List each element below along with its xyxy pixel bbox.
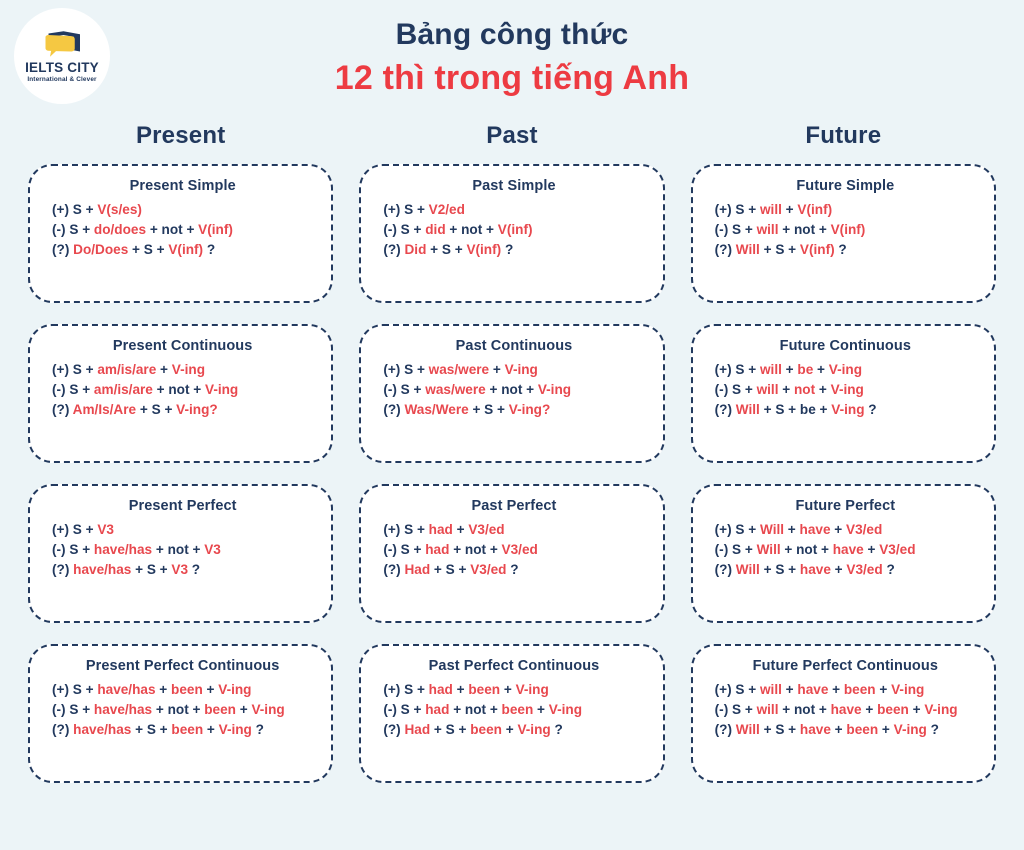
formula-keyword: Am/Is/Are (73, 402, 136, 417)
formula-keyword: will (760, 362, 782, 377)
formula-text: + (815, 382, 831, 397)
formula-text: (?) (52, 402, 73, 417)
formula-keyword: have/has (73, 722, 131, 737)
formula-text: (?) (383, 402, 404, 417)
tense-card-title: Present Simple (52, 178, 313, 194)
formula-text: (-) S + (383, 542, 425, 557)
formula-keyword: V-ing (924, 702, 957, 717)
formula-keyword: been (171, 722, 203, 737)
formula-text: + (878, 722, 894, 737)
formula-keyword: been (171, 682, 203, 697)
formula-line: (+) S + will + be + V-ing (715, 362, 976, 377)
formula-keyword: Was/Were (404, 402, 468, 417)
formula-keyword: Will (736, 722, 760, 737)
formula-keyword: am/is/are (97, 362, 156, 377)
formula-keyword: been (846, 722, 878, 737)
formula-keyword: V-ing (172, 362, 205, 377)
formula-keyword: Did (404, 242, 426, 257)
formula-line: (+) S + had + been + V-ing (383, 682, 644, 697)
formula-text: (-) S + (383, 222, 425, 237)
tense-card: Future Perfect(+) S + Will + have + V3/e… (691, 484, 996, 623)
formula-text: (+) S + (383, 682, 428, 697)
formula-keyword: Will (736, 242, 760, 257)
formula-line: (?) Am/Is/Are + S + V-ing? (52, 402, 313, 417)
tense-card-title: Present Continuous (52, 338, 313, 354)
formula-keyword: had (429, 682, 453, 697)
formula-line: (?) Will + S + have + been + V-ing ? (715, 722, 976, 737)
formula-keyword: been (844, 682, 876, 697)
formula-text: (+) S + (715, 682, 760, 697)
formula-line: (?) Do/Does + S + V(inf) ? (52, 242, 313, 257)
formula-text: ? (507, 562, 519, 577)
formula-keyword: V3 (204, 542, 221, 557)
formula-line: (+) S + V3 (52, 522, 313, 537)
formula-keyword: V(inf) (466, 242, 501, 257)
formula-text: + (489, 362, 505, 377)
formula-text: + not + (146, 222, 198, 237)
formula-keyword: have/has (73, 562, 131, 577)
formula-text: (-) S + (383, 382, 425, 397)
formula-line: (-) S + have/has + not + V3 (52, 542, 313, 557)
formula-line: (-) S + was/were + not + V-ing (383, 382, 644, 397)
formula-line: (-) S + have/has + not + been + V-ing (52, 702, 313, 717)
formula-keyword: Will (760, 522, 784, 537)
formula-keyword: V-ing (516, 682, 549, 697)
formula-text: + (864, 542, 880, 557)
formula-text: + (236, 702, 252, 717)
formula-text: + (500, 682, 516, 697)
formula-line: (+) S + will + have + been + V-ing (715, 682, 976, 697)
formula-keyword: V-ing (894, 722, 927, 737)
formula-text: + (876, 682, 892, 697)
formula-text: (+) S + (383, 522, 428, 537)
formula-keyword: V-ing (831, 402, 864, 417)
formula-keyword: have (800, 722, 831, 737)
formula-keyword: have/has (94, 542, 152, 557)
formula-text: (-) S + (52, 702, 94, 717)
formula-keyword: have/has (94, 702, 152, 717)
formula-keyword: been (470, 722, 502, 737)
tense-card-title: Future Simple (715, 178, 976, 194)
formula-keyword: had (429, 522, 453, 537)
tense-card-title: Past Simple (383, 178, 644, 194)
formula-text: (?) (715, 562, 736, 577)
formula-keyword: V(inf) (831, 222, 866, 237)
formula-text: + S + (131, 562, 171, 577)
formula-text: (-) S + (52, 542, 94, 557)
formula-text: ? (927, 722, 939, 737)
formula-keyword: V-ing (549, 702, 582, 717)
formula-text: + S + (131, 722, 171, 737)
formula-keyword: be (797, 362, 813, 377)
formula-list: (+) S + V(s/es)(-) S + do/does + not + V… (52, 202, 313, 257)
formula-keyword: V(s/es) (97, 202, 142, 217)
formula-keyword: Had (404, 562, 430, 577)
formula-text: + S + (430, 722, 470, 737)
formula-text: + S + (760, 722, 800, 737)
tense-card: Past Perfect Continuous(+) S + had + bee… (359, 644, 664, 783)
formula-line: (?) have/has + S + been + V-ing ? (52, 722, 313, 737)
formula-keyword: V2/ed (429, 202, 465, 217)
tense-card: Future Perfect Continuous(+) S + will + … (691, 644, 996, 783)
formula-keyword: Do/Does (73, 242, 128, 257)
formula-line: (-) S + do/does + not + V(inf) (52, 222, 313, 237)
formula-keyword: V-ing (505, 362, 538, 377)
formula-line: (?) Did + S + V(inf) ? (383, 242, 644, 257)
formula-keyword: been (502, 702, 534, 717)
formula-text: + (831, 522, 847, 537)
formula-keyword: V(inf) (168, 242, 203, 257)
formula-keyword: was/were (425, 382, 485, 397)
tense-card-title: Future Continuous (715, 338, 976, 354)
formula-list: (+) S + will + be + V-ing(-) S + will + … (715, 362, 976, 417)
formula-text: + (782, 682, 798, 697)
formula-text: + (784, 522, 800, 537)
formula-line: (?) Will + S + V(inf) ? (715, 242, 976, 257)
formula-text: + (453, 682, 469, 697)
formula-text: (?) (715, 242, 736, 257)
formula-line: (+) S + was/were + V-ing (383, 362, 644, 377)
formula-keyword: V-ing (538, 382, 571, 397)
formula-keyword: Will (757, 542, 781, 557)
tense-card-title: Future Perfect (715, 498, 976, 514)
formula-line: (-) S + will + not + have + been + V-ing (715, 702, 976, 717)
formula-text: + (453, 522, 469, 537)
formula-text: (+) S + (52, 362, 97, 377)
column-header-past: Past (359, 122, 664, 150)
formula-text: (+) S + (715, 202, 760, 217)
formula-keyword: not (794, 382, 815, 397)
tense-card-title: Past Perfect Continuous (383, 658, 644, 674)
formula-text: (?) (52, 722, 73, 737)
formula-text: (+) S + (383, 202, 428, 217)
tense-card: Present Perfect(+) S + V3(-) S + have/ha… (28, 484, 333, 623)
formula-text: + S + be + (760, 402, 831, 417)
formula-keyword: was/were (429, 362, 489, 377)
formula-text: + (203, 722, 219, 737)
formula-list: (+) S + have/has + been + V-ing(-) S + h… (52, 682, 313, 737)
formula-text: + (909, 702, 925, 717)
formula-text: (+) S + (383, 362, 428, 377)
formula-text: (-) S + (715, 382, 757, 397)
formula-line: (-) S + am/is/are + not + V-ing (52, 382, 313, 397)
formula-keyword: have (831, 702, 862, 717)
formula-keyword: V(inf) (797, 202, 832, 217)
formula-text: ? (252, 722, 264, 737)
column-headers: Present Past Future (28, 122, 996, 150)
formula-line: (+) S + will + V(inf) (715, 202, 976, 217)
formula-keyword: V3/ed (502, 542, 538, 557)
formula-text: + (813, 362, 829, 377)
formula-text: + not + (446, 222, 498, 237)
formula-text: ? (551, 722, 563, 737)
formula-text: (?) (383, 722, 404, 737)
formula-keyword: V-ing (251, 702, 284, 717)
formula-keyword: been (877, 702, 909, 717)
formula-text: (-) S + (383, 702, 425, 717)
formula-keyword: V-ing (891, 682, 924, 697)
formula-text: (+) S + (52, 202, 97, 217)
formula-keyword: will (760, 682, 782, 697)
formula-text: + not + (153, 382, 205, 397)
formula-keyword: Had (404, 722, 430, 737)
formula-text: + (782, 202, 798, 217)
formula-text: + not + (778, 702, 830, 717)
formula-text: ? (501, 242, 513, 257)
formula-list: (+) S + had + V3/ed(-) S + had + not + V… (383, 522, 644, 577)
formula-list: (+) S + will + V(inf)(-) S + will + not … (715, 202, 976, 257)
formula-keyword: V3/ed (846, 522, 882, 537)
formula-text: (-) S + (715, 702, 757, 717)
formula-list: (+) S + was/were + V-ing(-) S + was/were… (383, 362, 644, 417)
formula-text: + S + (760, 562, 800, 577)
formula-keyword: V-ing? (509, 402, 551, 417)
formula-list: (+) S + had + been + V-ing(-) S + had + … (383, 682, 644, 737)
formula-list: (+) S + V2/ed(-) S + did + not + V(inf)(… (383, 202, 644, 257)
formula-keyword: will (757, 382, 779, 397)
formula-line: (+) S + Will + have + V3/ed (715, 522, 976, 537)
tense-card-title: Future Perfect Continuous (715, 658, 976, 674)
formula-text: (-) S + (715, 222, 757, 237)
formula-text: + not + (152, 702, 204, 717)
formula-text: (?) (383, 242, 404, 257)
page-header: IELTS CITY International & Clever Bảng c… (0, 0, 1024, 122)
formula-text: ? (865, 402, 877, 417)
formula-keyword: am/is/are (94, 382, 153, 397)
formula-keyword: V-ing (517, 722, 550, 737)
formula-text: (?) (52, 242, 73, 257)
formula-line: (+) S + had + V3/ed (383, 522, 644, 537)
formula-text: (+) S + (715, 522, 760, 537)
formula-keyword: Will (736, 402, 760, 417)
formula-keyword: V-ing (218, 682, 251, 697)
formula-line: (-) S + will + not + V(inf) (715, 222, 976, 237)
formula-keyword: V-ing? (176, 402, 218, 417)
formula-keyword: V(inf) (498, 222, 533, 237)
formula-keyword: have/has (97, 682, 155, 697)
formula-text: (-) S + (715, 542, 757, 557)
formula-line: (?) Had + S + been + V-ing ? (383, 722, 644, 737)
formula-keyword: have (833, 542, 864, 557)
column-header-future: Future (691, 122, 996, 150)
formula-list: (+) S + V3(-) S + have/has + not + V3(?)… (52, 522, 313, 577)
formula-text: + (831, 722, 847, 737)
formula-text: + (831, 562, 847, 577)
formula-line: (-) S + had + not + V3/ed (383, 542, 644, 557)
formula-text: + (862, 702, 878, 717)
title-block: Bảng công thức 12 thì trong tiếng Anh (0, 18, 1024, 99)
formula-text: (?) (715, 722, 736, 737)
formula-text: + not + (781, 542, 833, 557)
column-header-present: Present (28, 122, 333, 150)
tense-card: Present Continuous(+) S + am/is/are + V-… (28, 324, 333, 463)
formula-line: (-) S + Will + not + have + V3/ed (715, 542, 976, 557)
formula-keyword: V(inf) (800, 242, 835, 257)
formula-text: (+) S + (715, 362, 760, 377)
formula-line: (+) S + V(s/es) (52, 202, 313, 217)
tense-card-title: Past Continuous (383, 338, 644, 354)
formula-text: ? (188, 562, 200, 577)
page-title: Bảng công thức (0, 18, 1024, 53)
tense-card: Future Simple(+) S + will + V(inf)(-) S … (691, 164, 996, 303)
formula-text: + (203, 682, 219, 697)
formula-text: (+) S + (52, 522, 97, 537)
formula-line: (?) Had + S + V3/ed ? (383, 562, 644, 577)
formula-text: + (502, 722, 518, 737)
formula-text: + S + (760, 242, 800, 257)
formula-keyword: V3 (97, 522, 114, 537)
formula-keyword: been (468, 682, 500, 697)
formula-text: (?) (383, 562, 404, 577)
formula-text: + (156, 362, 172, 377)
formula-text: ? (203, 242, 215, 257)
formula-text: + S + (136, 402, 176, 417)
formula-text: + not + (486, 382, 538, 397)
formula-keyword: will (757, 702, 779, 717)
formula-text: + S + (469, 402, 509, 417)
formula-text: + (782, 362, 798, 377)
formula-text: + (778, 382, 794, 397)
formula-text: ? (883, 562, 895, 577)
formula-keyword: V-ing (829, 362, 862, 377)
formula-keyword: Will (736, 562, 760, 577)
tense-card: Past Perfect(+) S + had + V3/ed(-) S + h… (359, 484, 664, 623)
formula-keyword: V3/ed (468, 522, 504, 537)
formula-text: + not + (449, 702, 501, 717)
formula-text: + S + (128, 242, 168, 257)
formula-text: (?) (715, 402, 736, 417)
formula-text: + (156, 682, 172, 697)
formula-list: (+) S + will + have + been + V-ing(-) S … (715, 682, 976, 737)
formula-text: + S + (430, 562, 470, 577)
formula-keyword: V-ing (205, 382, 238, 397)
formula-text: (?) (52, 562, 73, 577)
formula-line: (+) S + have/has + been + V-ing (52, 682, 313, 697)
tense-card-title: Present Perfect Continuous (52, 658, 313, 674)
formula-text: + S + (426, 242, 466, 257)
formula-keyword: V3/ed (879, 542, 915, 557)
formula-keyword: have (797, 682, 828, 697)
formula-line: (?) Will + S + be + V-ing ? (715, 402, 976, 417)
formula-text: + (828, 682, 844, 697)
formula-line: (?) Was/Were + S + V-ing? (383, 402, 644, 417)
formula-text: (+) S + (52, 682, 97, 697)
formula-keyword: have (800, 562, 831, 577)
formula-keyword: V3/ed (470, 562, 506, 577)
formula-text: (-) S + (52, 222, 94, 237)
formula-line: (-) S + had + not + been + V-ing (383, 702, 644, 717)
formula-keyword: been (204, 702, 236, 717)
page-subtitle: 12 thì trong tiếng Anh (0, 57, 1024, 100)
formula-keyword: V3/ed (846, 562, 882, 577)
formula-keyword: had (425, 702, 449, 717)
formula-line: (?) Will + S + have + V3/ed ? (715, 562, 976, 577)
formula-keyword: V-ing (831, 382, 864, 397)
formula-line: (?) have/has + S + V3 ? (52, 562, 313, 577)
tense-card: Past Continuous(+) S + was/were + V-ing(… (359, 324, 664, 463)
formula-keyword: had (425, 542, 449, 557)
formula-line: (-) S + will + not + V-ing (715, 382, 976, 397)
formula-keyword: do/does (94, 222, 146, 237)
formula-keyword: will (757, 222, 779, 237)
formula-line: (+) S + V2/ed (383, 202, 644, 217)
formula-keyword: V-ing (219, 722, 252, 737)
formula-keyword: V(inf) (198, 222, 233, 237)
formula-line: (-) S + did + not + V(inf) (383, 222, 644, 237)
formula-text: (-) S + (52, 382, 94, 397)
tense-card: Past Simple(+) S + V2/ed(-) S + did + no… (359, 164, 664, 303)
formula-keyword: will (760, 202, 782, 217)
tense-card: Present Perfect Continuous(+) S + have/h… (28, 644, 333, 783)
formula-line: (+) S + am/is/are + V-ing (52, 362, 313, 377)
tense-card-grid: Present Simple(+) S + V(s/es)(-) S + do/… (28, 164, 996, 783)
tense-card-title: Present Perfect (52, 498, 313, 514)
tense-card-title: Past Perfect (383, 498, 644, 514)
formula-list: (+) S + am/is/are + V-ing(-) S + am/is/a… (52, 362, 313, 417)
formula-text: + not + (152, 542, 204, 557)
formula-text: + not + (449, 542, 501, 557)
formula-keyword: V3 (171, 562, 188, 577)
tense-card: Present Simple(+) S + V(s/es)(-) S + do/… (28, 164, 333, 303)
formula-text: + (533, 702, 549, 717)
tense-board: Present Past Future Present Simple(+) S … (0, 122, 1024, 783)
formula-keyword: did (425, 222, 445, 237)
formula-text: ? (835, 242, 847, 257)
formula-list: (+) S + Will + have + V3/ed(-) S + Will … (715, 522, 976, 577)
tense-card: Future Continuous(+) S + will + be + V-i… (691, 324, 996, 463)
formula-keyword: have (800, 522, 831, 537)
formula-text: + not + (778, 222, 830, 237)
